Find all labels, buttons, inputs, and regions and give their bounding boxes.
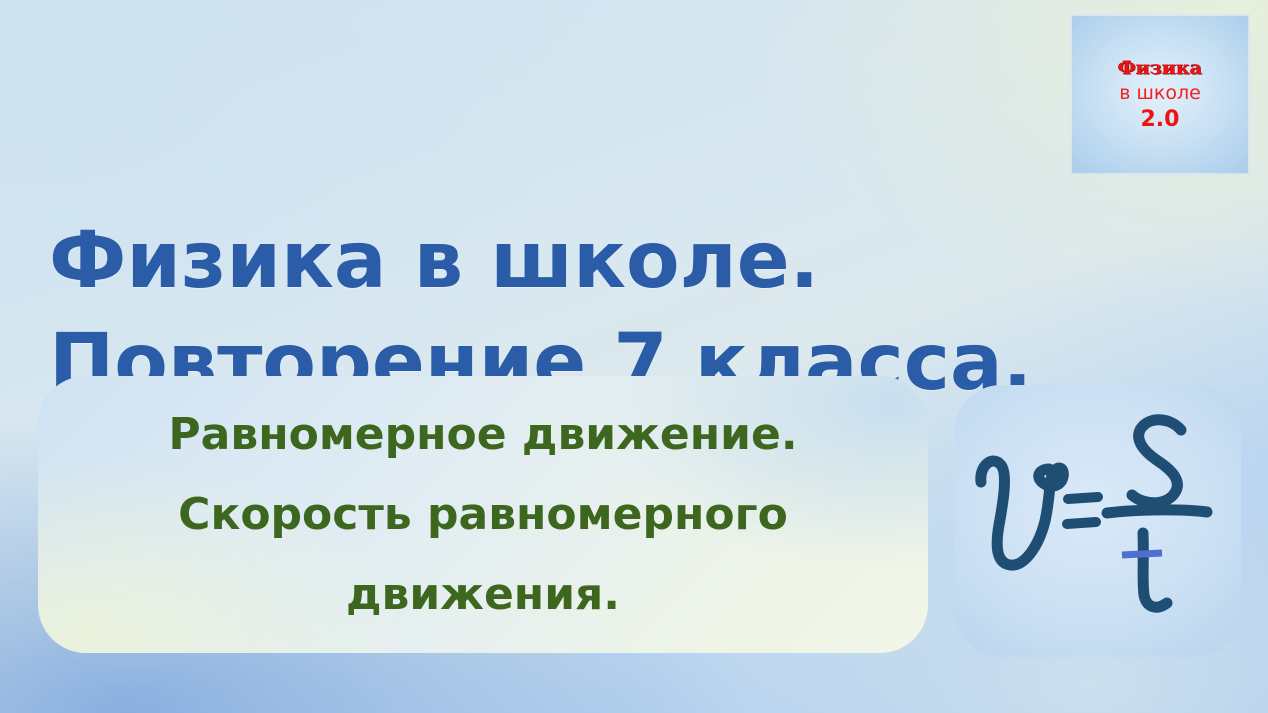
subtitle-text: Равномерное движение. Скорость равномерн… [38,395,928,635]
formula-card [955,385,1241,657]
title-line-1: Физика в школе. [49,216,819,306]
logo-version: 2.0 [1141,107,1180,133]
subtitle-card: Равномерное движение. Скорость равномерн… [38,376,928,653]
slide-canvas: Физика в школе. Повторение 7 класса. Физ… [0,0,1268,713]
channel-logo-badge: Физика в школе 2.0 [1070,14,1250,175]
logo-line-1: Физика [1118,57,1202,79]
logo-line-2: в школе [1119,81,1201,105]
handwritten-formula-icon [955,385,1241,657]
